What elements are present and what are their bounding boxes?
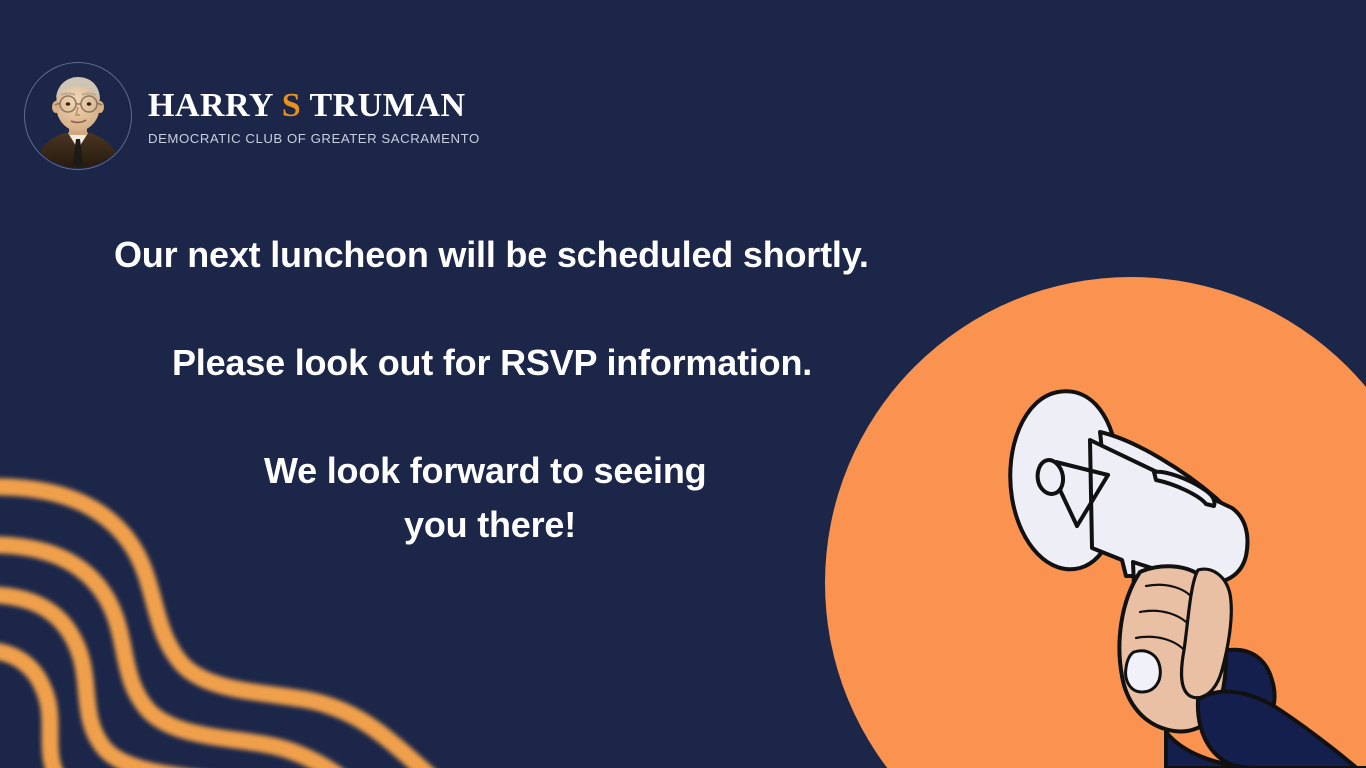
org-subtitle: DEMOCRATIC CLUB OF GREATER SACRAMENTO <box>148 132 480 145</box>
megaphone-illustration <box>950 380 1366 768</box>
announcement-message: Our next luncheon will be scheduled shor… <box>0 236 980 545</box>
truman-portrait <box>24 62 132 170</box>
message-line-4: you there! <box>0 506 980 544</box>
slide-canvas: HARRY S TRUMAN DEMOCRATIC CLUB OF GREATE… <box>0 0 1366 768</box>
message-line-3: We look forward to seeing <box>0 452 980 490</box>
logo-text-block: HARRY S TRUMAN DEMOCRATIC CLUB OF GREATE… <box>148 89 480 145</box>
org-logo: HARRY S TRUMAN DEMOCRATIC CLUB OF GREATE… <box>24 62 480 170</box>
org-name-first: HARRY <box>148 87 282 124</box>
org-name-initial: S <box>282 87 301 124</box>
org-name-last: TRUMAN <box>301 87 465 124</box>
org-name: HARRY S TRUMAN <box>148 89 480 123</box>
message-line-2: Please look out for RSVP information. <box>0 344 980 382</box>
message-line-1: Our next luncheon will be scheduled shor… <box>0 236 980 274</box>
